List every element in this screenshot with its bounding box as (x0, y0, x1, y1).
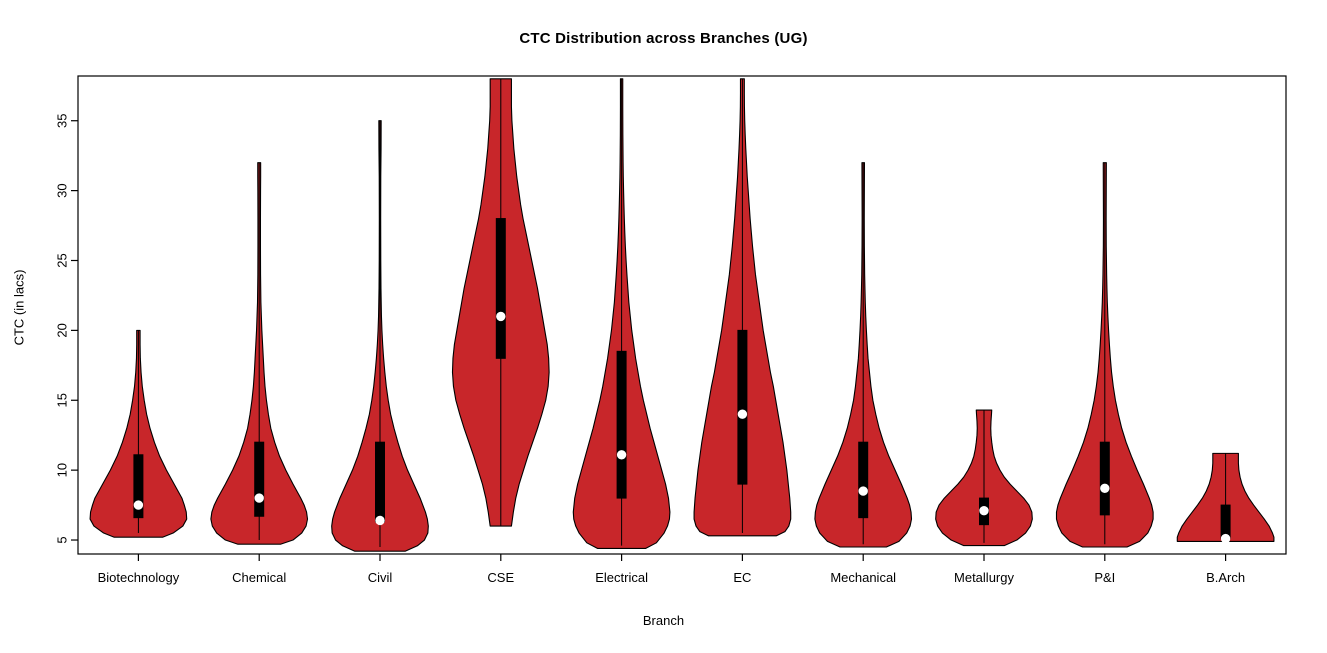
violin-mechanical[interactable] (815, 163, 912, 547)
y-axis-tick-label: 25 (55, 253, 70, 267)
x-axis-tick-label-metallurgy: Metallurgy (954, 570, 1014, 585)
median-point (255, 494, 263, 502)
y-axis-tick-label: 15 (55, 393, 70, 407)
y-axis-tick-label: 30 (55, 183, 70, 197)
violin-metallurgy[interactable] (936, 410, 1033, 546)
plot-canvas: 5101520253035BiotechnologyChemicalCivilC… (0, 0, 1327, 653)
x-axis-tick-label-civil: Civil (368, 570, 393, 585)
iqr-box (617, 351, 626, 498)
violin-electrical[interactable] (573, 79, 670, 549)
x-axis-tick-label-b-arch: B.Arch (1206, 570, 1245, 585)
y-axis: 5101520253035 (55, 113, 79, 543)
iqr-box (859, 442, 868, 517)
x-axis-title: Branch (0, 613, 1327, 628)
violin-civil[interactable] (332, 121, 429, 551)
median-point (980, 506, 988, 514)
x-axis-tick-label-mechanical: Mechanical (830, 570, 896, 585)
y-axis-tick-label: 35 (55, 113, 70, 127)
iqr-box (255, 442, 264, 516)
iqr-box (1100, 442, 1109, 515)
x-axis: BiotechnologyChemicalCivilCSEElectricalE… (98, 554, 1246, 585)
violin-plot-figure: CTC Distribution across Branches (UG) CT… (0, 0, 1327, 653)
y-axis-tick-label: 10 (55, 463, 70, 477)
iqr-box (1221, 505, 1230, 539)
median-point (617, 451, 625, 459)
violin-ec[interactable] (694, 79, 791, 536)
x-axis-tick-label-biotechnology: Biotechnology (98, 570, 180, 585)
median-point (376, 516, 384, 524)
x-axis-tick-label-p-i: P&I (1094, 570, 1115, 585)
median-point (738, 410, 746, 418)
y-axis-tick-label: 5 (55, 536, 70, 543)
x-axis-tick-label-ec: EC (733, 570, 751, 585)
iqr-box (376, 442, 385, 522)
median-point (497, 312, 505, 320)
violin-cse[interactable] (452, 79, 549, 526)
violin-chemical[interactable] (211, 163, 308, 545)
median-point (134, 501, 142, 509)
median-point (859, 487, 867, 495)
median-point (1221, 534, 1229, 542)
iqr-box (496, 219, 505, 359)
y-axis-tick-label: 20 (55, 323, 70, 337)
x-axis-tick-label-chemical: Chemical (232, 570, 286, 585)
x-axis-tick-label-cse: CSE (487, 570, 514, 585)
iqr-box (738, 330, 747, 484)
violin-biotechnology[interactable] (90, 330, 187, 537)
violin-p-i[interactable] (1056, 163, 1153, 547)
x-axis-tick-label-electrical: Electrical (595, 570, 648, 585)
median-point (1101, 484, 1109, 492)
violin-b-arch[interactable] (1177, 453, 1274, 542)
